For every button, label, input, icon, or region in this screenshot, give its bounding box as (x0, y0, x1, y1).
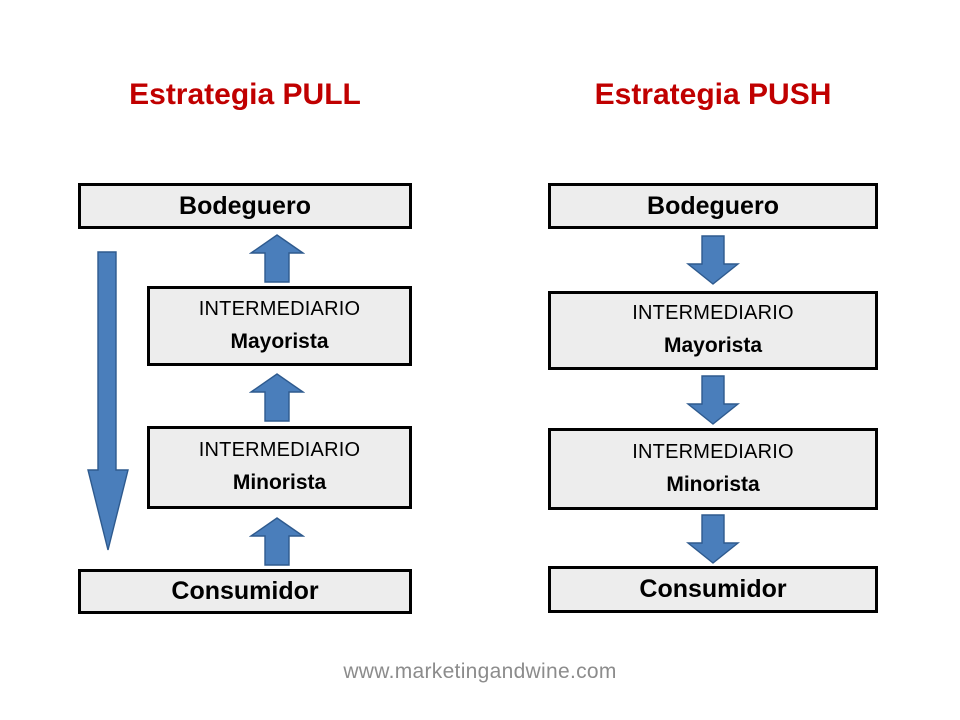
footer-url[interactable]: www.marketingandwine.com (0, 660, 960, 684)
pull-demand-down-arrow-icon (86, 250, 130, 552)
pull-arrow-consumidor-to-minorista-up-arrow-icon (249, 516, 305, 566)
push-arrow-mayorista-to-minorista-down-arrow-icon (686, 374, 740, 426)
push-node-bodeguero[interactable]: Bodeguero (548, 183, 878, 229)
pull-node-consumidor[interactable]: Consumidor (78, 569, 412, 614)
node-label-primary: INTERMEDIARIO (632, 302, 794, 325)
pull-node-bodeguero[interactable]: Bodeguero (78, 183, 412, 229)
node-label-secondary: Mayorista (664, 334, 762, 358)
node-label-primary: Consumidor (171, 577, 318, 606)
node-label-primary: Bodeguero (179, 192, 311, 221)
node-label-secondary: Minorista (666, 473, 759, 497)
slide-canvas: Estrategia PULL Estrategia PUSH Bodeguer… (0, 0, 960, 720)
node-label-primary: INTERMEDIARIO (199, 298, 361, 321)
node-label-primary: INTERMEDIARIO (632, 441, 794, 464)
node-label-secondary: Minorista (233, 471, 326, 495)
pull-column-title: Estrategia PULL (78, 80, 412, 110)
push-node-intermediario-minorista[interactable]: INTERMEDIARIO Minorista (548, 428, 878, 510)
push-node-intermediario-mayorista[interactable]: INTERMEDIARIO Mayorista (548, 291, 878, 370)
push-arrow-bodeguero-to-mayorista-down-arrow-icon (686, 234, 740, 286)
pull-arrow-mayorista-to-bodeguero-up-arrow-icon (249, 233, 305, 283)
push-arrow-minorista-to-consumidor-down-arrow-icon (686, 513, 740, 565)
node-label-secondary: Mayorista (230, 330, 328, 354)
node-label-primary: INTERMEDIARIO (199, 439, 361, 462)
node-label-primary: Consumidor (639, 575, 786, 604)
pull-node-intermediario-mayorista[interactable]: INTERMEDIARIO Mayorista (147, 286, 412, 366)
node-label-primary: Bodeguero (647, 192, 779, 221)
pull-arrow-minorista-to-mayorista-up-arrow-icon (249, 372, 305, 422)
pull-node-intermediario-minorista[interactable]: INTERMEDIARIO Minorista (147, 426, 412, 509)
push-column-title: Estrategia PUSH (548, 80, 878, 110)
push-node-consumidor[interactable]: Consumidor (548, 566, 878, 613)
